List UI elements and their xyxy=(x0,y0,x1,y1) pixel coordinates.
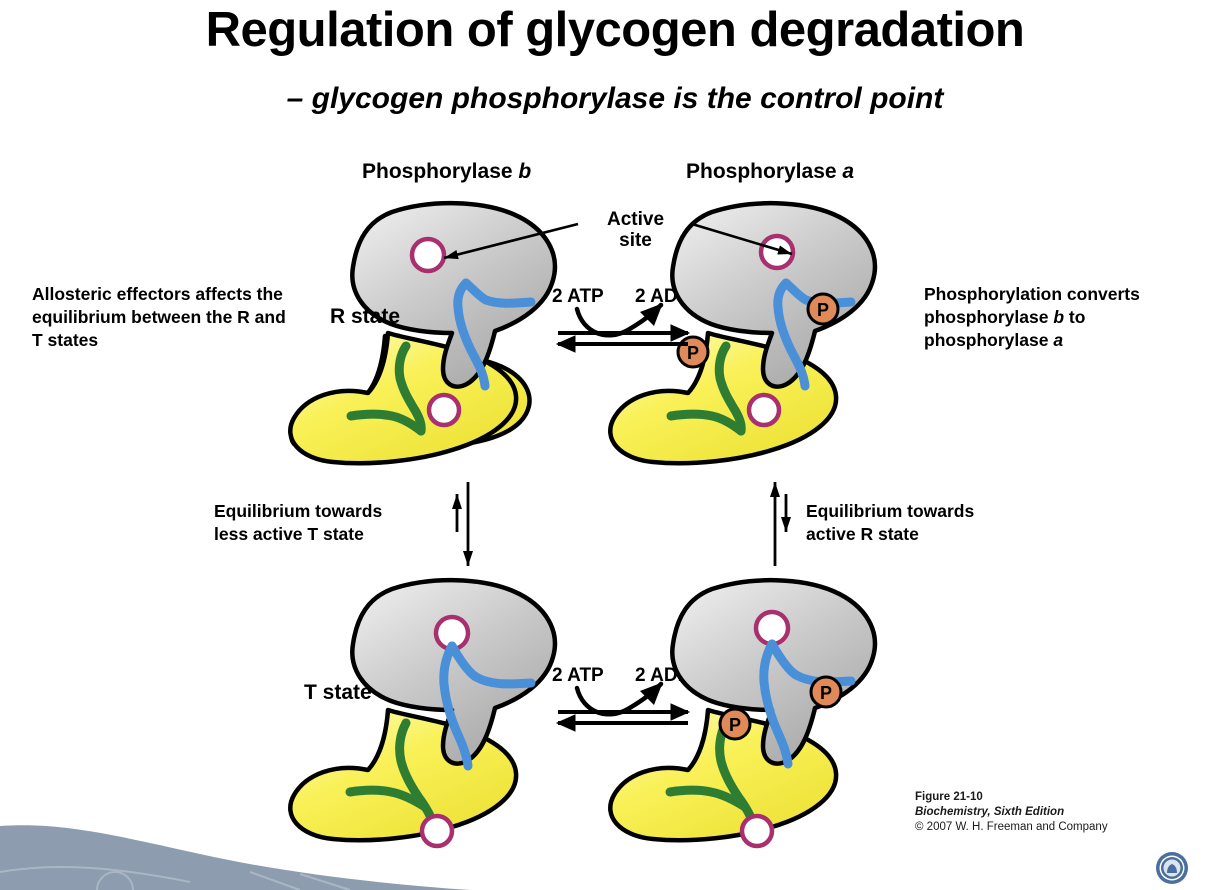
figure-caption: Figure 21-10 Biochemistry, Sixth Edition… xyxy=(915,790,1108,836)
vertical-equilibrium-arrows-right xyxy=(775,482,786,566)
curved-arrow-atp-adp-bottom xyxy=(577,684,661,714)
active-site-ring-yellow-a-t xyxy=(742,816,772,846)
active-site-ring-yellow-b-r xyxy=(429,395,459,425)
phosphate-badge-a-r-lower: P xyxy=(678,337,708,367)
active-site-ring-b-r xyxy=(412,239,444,271)
protein-phosphorylase-b-r-state xyxy=(290,203,555,463)
phosphate-badge-a-t-lower: P xyxy=(720,709,750,739)
phosphate-badge-a-t-upper: P xyxy=(811,677,841,707)
curved-arrow-atp-adp-top xyxy=(577,305,661,335)
active-site-ring-a-t xyxy=(756,612,788,644)
phosphate-badge-label: P xyxy=(729,715,741,735)
caption-figure-number: Figure 21-10 xyxy=(915,790,1108,805)
reaction-arrows-bottom xyxy=(558,684,688,723)
slide-canvas: Regulation of glycogen degradation – gly… xyxy=(0,0,1230,890)
label-active-site: Active site xyxy=(583,210,688,251)
phosphate-badge-label: P xyxy=(820,683,832,703)
active-site-line2: site xyxy=(619,230,652,251)
label-t-state: T state xyxy=(304,681,372,705)
phosphate-badge-a-r-upper: P xyxy=(808,294,838,324)
caption-copyright: © 2007 W. H. Freeman and Company xyxy=(915,820,1108,835)
active-site-ring-yellow-b-t xyxy=(422,816,452,846)
institution-seal-logo xyxy=(1155,851,1189,885)
active-site-line1: Active xyxy=(607,209,664,230)
vertical-equilibrium-arrows-left xyxy=(457,482,468,566)
reaction-arrows-top xyxy=(558,305,688,344)
glycogen-phosphorylase-diagram: P P xyxy=(0,0,1230,890)
phosphate-badge-label: P xyxy=(687,343,699,363)
caption-source-title: Biochemistry, Sixth Edition xyxy=(915,805,1108,820)
label-r-state: R state xyxy=(330,305,400,329)
active-site-ring-yellow-a-r xyxy=(749,395,779,425)
phosphate-badge-label: P xyxy=(817,300,829,320)
protein-phosphorylase-b-t-state xyxy=(290,580,555,846)
